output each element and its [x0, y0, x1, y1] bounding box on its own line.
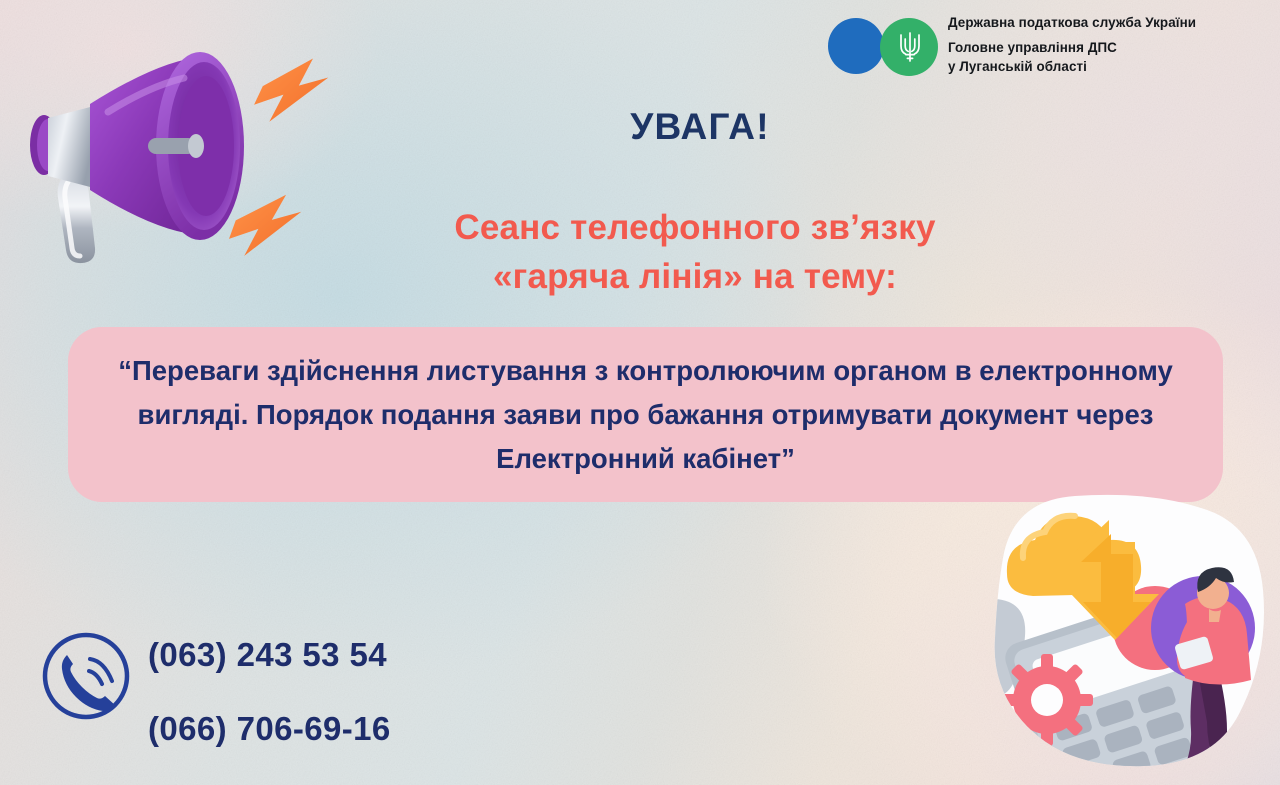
- org-line-1: Державна податкова служба України: [948, 14, 1268, 31]
- organization-header: Державна податкова служба України Головн…: [828, 14, 1268, 92]
- banner-canvas: Державна податкова служба України Головн…: [0, 0, 1280, 785]
- org-line-3: у Луганській області: [948, 57, 1268, 76]
- organization-name-block: Державна податкова служба України Головн…: [948, 14, 1268, 76]
- logo-blue-circle: [828, 18, 884, 74]
- phone-number-2[interactable]: (066) 706-69-16: [148, 692, 391, 766]
- electronic-document-illustration: [955, 488, 1280, 785]
- contact-block: (063) 243 53 54 (066) 706-69-16: [36, 618, 556, 748]
- topic-quote-text: “Переваги здійснення листування з контро…: [91, 349, 1201, 481]
- topic-quote-box: “Переваги здійснення листування з контро…: [68, 327, 1223, 502]
- org-line-2: Головне управління ДПС: [948, 38, 1268, 57]
- phone-number-list: (063) 243 53 54 (066) 706-69-16: [148, 618, 391, 766]
- subtitle-line-2: «гаряча лінія» на тему:: [55, 252, 1280, 301]
- subtitle-line-1: Сеанс телефонного зв’язку: [55, 203, 1280, 252]
- subtitle-block: Сеанс телефонного зв’язку «гаряча лінія»…: [55, 203, 1280, 301]
- trident-icon: [898, 30, 922, 64]
- attention-heading: УВАГА!: [60, 106, 1280, 148]
- phone-in-circle-icon: [40, 630, 132, 722]
- phone-number-1[interactable]: (063) 243 53 54: [148, 618, 391, 692]
- dps-logo: [828, 18, 950, 76]
